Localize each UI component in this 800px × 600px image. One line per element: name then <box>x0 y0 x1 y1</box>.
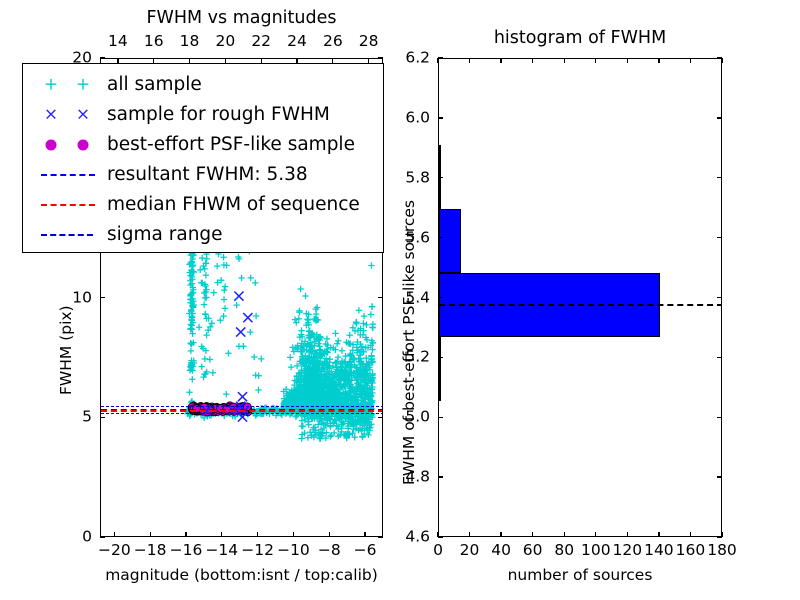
scatter-xtick-label: −20 <box>98 543 131 559</box>
histogram-top-xtick <box>595 58 596 63</box>
sigma-upper-line <box>101 406 382 407</box>
resultant-fwhm-line <box>101 409 382 411</box>
scatter-top-xtick-label: 24 <box>287 34 307 50</box>
filled-circle-icon <box>78 140 89 151</box>
legend-label: median FHWM of sequence <box>105 196 360 215</box>
scatter-top-xtick-label: 20 <box>216 34 236 50</box>
dashed-line-icon <box>41 204 95 206</box>
histogram-xtick-label: 180 <box>707 543 737 559</box>
histogram-xtick-label: 20 <box>460 543 480 559</box>
scatter-ytick-right <box>378 536 383 537</box>
legend-handle <box>31 160 105 190</box>
legend-entry: ××sample for rough FWHM <box>31 100 373 130</box>
legend-handle: ++ <box>31 70 105 100</box>
scatter-ytick-right <box>378 297 383 298</box>
scatter-ytick-label: 0 <box>82 529 92 545</box>
histogram-bar <box>439 209 461 273</box>
scatter-xtick <box>293 532 294 537</box>
histogram-xtick-label: 140 <box>644 543 674 559</box>
histogram-top-xtick <box>690 58 691 63</box>
histogram-xtick-label: 160 <box>676 543 706 559</box>
scatter-ytick <box>100 417 105 418</box>
histogram-top-xtick <box>500 58 501 63</box>
legend-entry: median FHWM of sequence <box>31 190 373 220</box>
legend-label: sigma range <box>105 226 223 245</box>
scatter-top-xtick-label: 28 <box>359 34 379 50</box>
histogram-axes <box>438 58 722 537</box>
histogram-ytick-right <box>717 417 722 418</box>
dashdot-line-icon <box>41 234 93 236</box>
cross-icon: × <box>76 107 90 124</box>
histogram-xtick <box>500 532 501 537</box>
histogram-xtick-label: 100 <box>581 543 611 559</box>
sigma-lower-line <box>101 413 382 414</box>
scatter-title: FWHM vs magnitudes <box>100 8 383 28</box>
histogram-top-xtick <box>437 58 438 63</box>
histogram-xlabel: number of sources <box>438 566 722 584</box>
scatter-top-xtick-label: 16 <box>144 34 164 50</box>
histogram-ytick <box>438 117 443 118</box>
scatter-xtick-label: −8 <box>318 543 341 559</box>
legend-label: all sample <box>105 76 202 95</box>
scatter-ytick-label: 10 <box>72 290 92 306</box>
scatter-ytick <box>100 297 105 298</box>
histogram-ytick-right <box>717 237 722 238</box>
legend-handle <box>31 190 105 220</box>
histogram-data-layer <box>439 59 721 536</box>
legend: ++all sample××sample for rough FWHMbest-… <box>22 63 384 253</box>
histogram-bar <box>439 273 660 337</box>
scatter-top-xtick-label: 14 <box>108 34 128 50</box>
scatter-xtick-label: −6 <box>354 543 377 559</box>
histogram-ytick-right <box>717 117 722 118</box>
scatter-top-xtick-label: 26 <box>323 34 343 50</box>
histogram-top-xtick <box>658 58 659 63</box>
histogram-title: histogram of FWHM <box>438 28 722 48</box>
cross-icon: × <box>44 107 58 124</box>
legend-label: resultant FWHM: 5.38 <box>105 166 308 185</box>
plus-icon: + <box>76 77 90 94</box>
scatter-xlabel: magnitude (bottom:isnt / top:calib) <box>100 566 383 584</box>
legend-entry: resultant FWHM: 5.38 <box>31 160 373 190</box>
scatter-ytick <box>100 536 105 537</box>
histogram-xtick <box>690 532 691 537</box>
legend-entry: sigma range <box>31 220 373 250</box>
legend-label: sample for rough FWHM <box>105 106 330 125</box>
histogram-ytick-right <box>717 177 722 178</box>
scatter-xtick <box>257 532 258 537</box>
histogram-ytick-right <box>717 57 722 58</box>
resultant-fwhm-line <box>439 304 721 306</box>
histogram-xtick <box>595 532 596 537</box>
legend-handle <box>31 220 105 250</box>
histogram-top-xtick <box>627 58 628 63</box>
scatter-xtick <box>364 532 365 537</box>
histogram-ytick-right <box>717 476 722 477</box>
histogram-ytick-right <box>717 536 722 537</box>
scatter-xtick <box>185 532 186 537</box>
histogram-xtick-label: 80 <box>554 543 574 559</box>
histogram-xtick <box>469 532 470 537</box>
histogram-ytick <box>438 536 443 537</box>
histogram-top-xtick <box>469 58 470 63</box>
scatter-ytick-right <box>378 417 383 418</box>
histogram-top-xtick <box>564 58 565 63</box>
legend-entry: best-effort PSF-like sample <box>31 130 373 160</box>
histogram-ytick <box>438 237 443 238</box>
figure-canvas: FWHM vs magnitudes 1416182022242628 −20−… <box>0 0 800 600</box>
scatter-xtick <box>114 532 115 537</box>
histogram-ytick <box>438 177 443 178</box>
histogram-ylabel: FWHM of best-effort PSF-like sources <box>400 200 418 485</box>
scatter-xtick-label: −12 <box>241 543 274 559</box>
scatter-ytick-right <box>378 57 383 58</box>
histogram-xtick <box>658 532 659 537</box>
histogram-ytick <box>438 57 443 58</box>
histogram-ytick-label: 5.8 <box>405 170 430 186</box>
histogram-ytick-label: 4.6 <box>405 529 430 545</box>
histogram-xtick <box>564 532 565 537</box>
histogram-xtick <box>627 532 628 537</box>
histogram-xtick-label: 0 <box>433 543 443 559</box>
histogram-xtick-label: 120 <box>613 543 643 559</box>
legend-handle: ×× <box>31 100 105 130</box>
histogram-ytick-label: 6.2 <box>405 50 430 66</box>
histogram-xtick <box>532 532 533 537</box>
scatter-ytick <box>100 57 105 58</box>
filled-circle-icon <box>46 140 57 151</box>
scatter-xtick <box>329 532 330 537</box>
scatter-top-xtick-label: 18 <box>180 34 200 50</box>
histogram-xtick-label: 40 <box>491 543 511 559</box>
scatter-xtick-label: −16 <box>170 543 203 559</box>
scatter-top-xtick-label: 22 <box>251 34 271 50</box>
legend-handle <box>31 130 105 160</box>
scatter-ytick-label: 5 <box>82 410 92 426</box>
scatter-xtick-label: −18 <box>134 543 167 559</box>
histogram-ytick <box>438 476 443 477</box>
histogram-ytick-label: 6.0 <box>405 110 430 126</box>
scatter-xtick-label: −10 <box>277 543 310 559</box>
histogram-ytick-right <box>717 357 722 358</box>
scatter-xtick <box>221 532 222 537</box>
histogram-ytick <box>438 297 443 298</box>
median-fwhm-line <box>101 410 382 412</box>
scatter-xtick-label: −14 <box>205 543 238 559</box>
histogram-top-xtick <box>532 58 533 63</box>
histogram-top-xtick <box>721 58 722 63</box>
histogram-ytick-right <box>717 297 722 298</box>
legend-entry: ++all sample <box>31 70 373 100</box>
histogram-bar <box>439 337 441 401</box>
histogram-xtick-label: 60 <box>523 543 543 559</box>
dashed-line-icon <box>41 174 95 176</box>
histogram-ytick <box>438 417 443 418</box>
scatter-xtick <box>150 532 151 537</box>
scatter-ylabel: FWHM (pix) <box>57 305 75 395</box>
legend-label: best-effort PSF-like sample <box>105 136 355 155</box>
plus-icon: + <box>44 77 58 94</box>
histogram-ytick <box>438 357 443 358</box>
